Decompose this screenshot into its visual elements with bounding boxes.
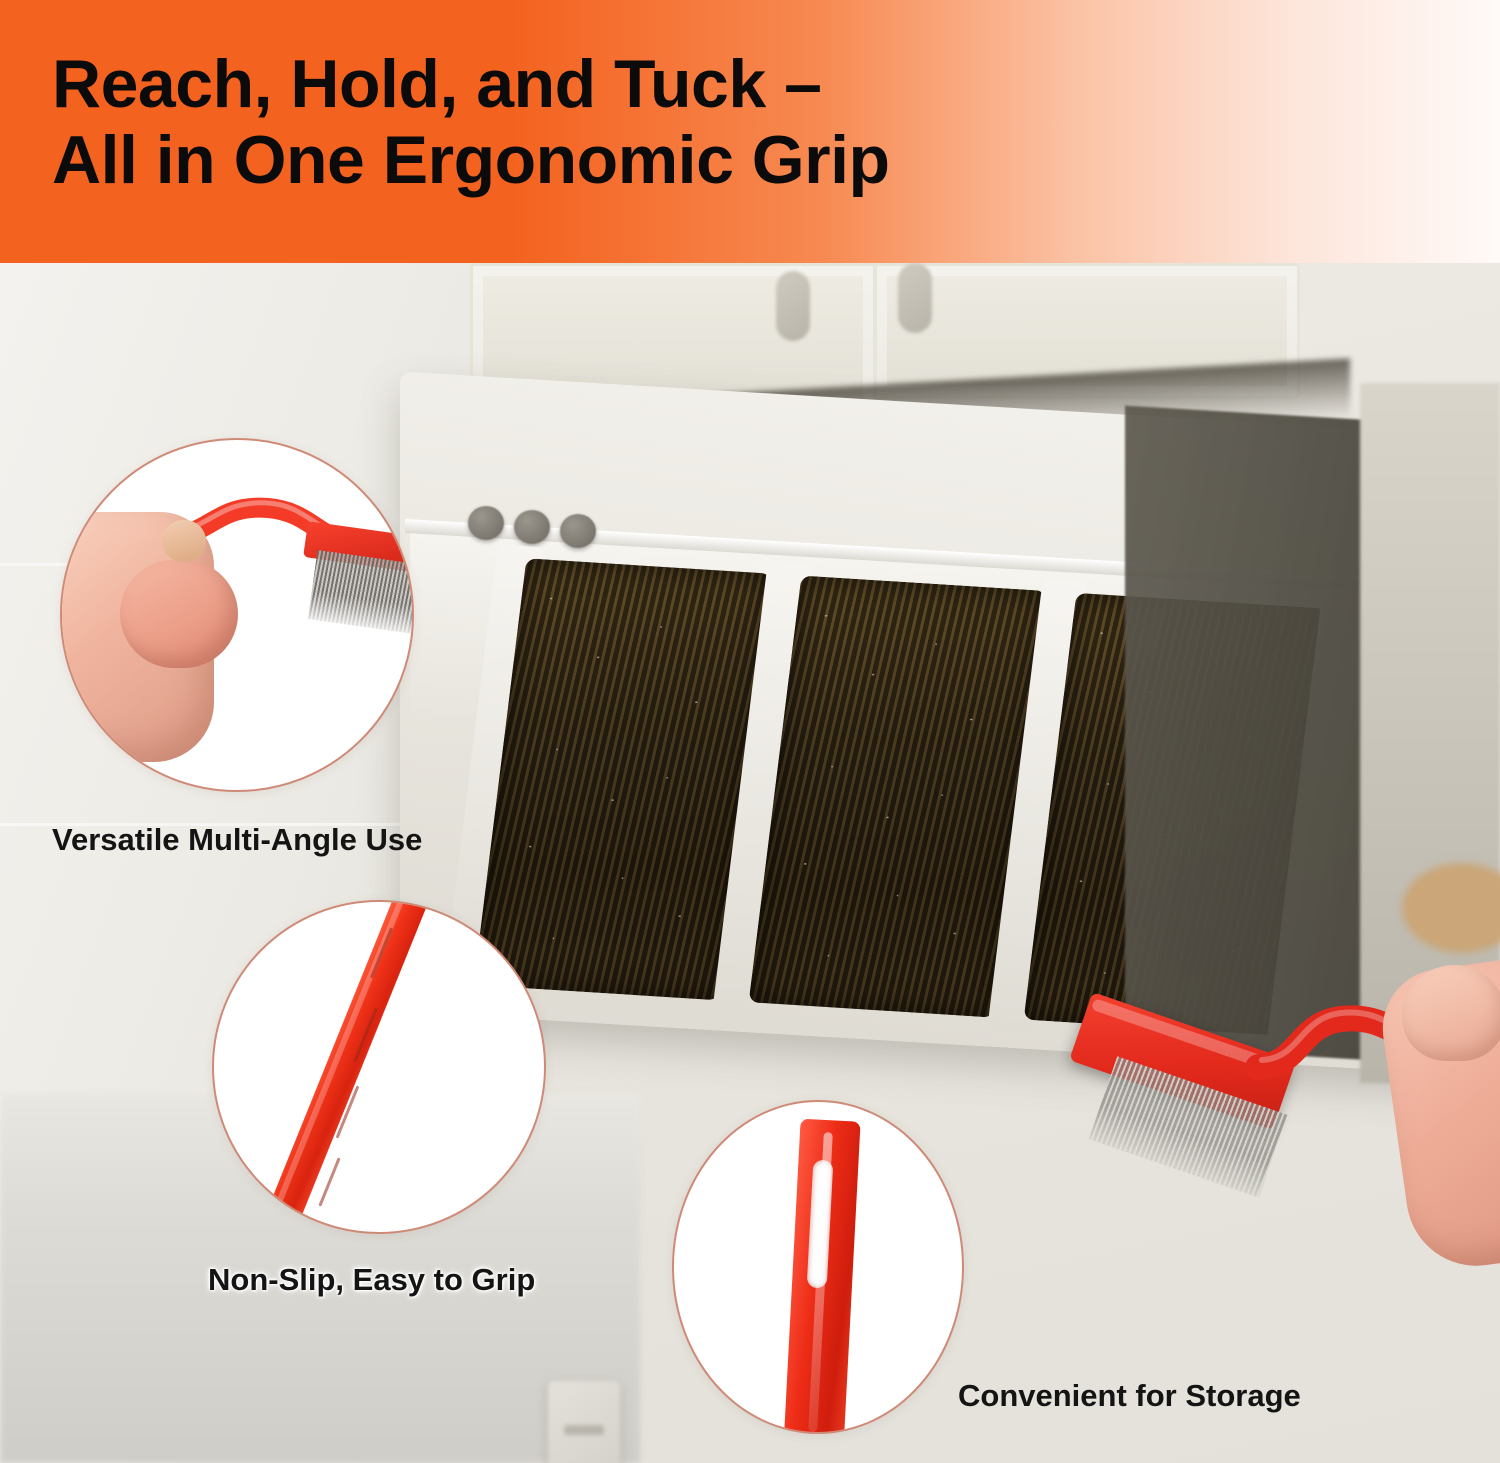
cabinet-knob	[898, 263, 932, 333]
callout-label-3: Convenient for Storage	[958, 1378, 1301, 1414]
header-banner: Reach, Hold, and Tuck – All in One Ergon…	[0, 0, 1500, 263]
wall-outlet	[548, 1381, 620, 1463]
wire-bristles-mini	[308, 550, 414, 636]
headline-line-2: All in One Ergonomic Grip	[52, 122, 1382, 198]
hood-control-button[interactable]	[468, 506, 504, 540]
hood-control-button[interactable]	[560, 514, 596, 548]
handle-closeup	[245, 900, 434, 1234]
hood-control-button[interactable]	[514, 510, 550, 544]
cabinet-knob	[776, 271, 810, 341]
callout-circle-1	[60, 438, 414, 792]
knuckle	[120, 560, 238, 668]
range-hood-shadow-side	[1125, 406, 1375, 1061]
callout-circle-3	[672, 1100, 964, 1434]
thumb	[1402, 965, 1500, 1061]
callout-circle-2	[212, 900, 546, 1234]
callout-label-2: Non-Slip, Easy to Grip	[208, 1262, 535, 1298]
page-title: Reach, Hold, and Tuck – All in One Ergon…	[52, 46, 1382, 198]
thumbnail	[162, 520, 206, 562]
product-feature-image: Reach, Hold, and Tuck – All in One Ergon…	[0, 0, 1500, 1463]
callout-label-1: Versatile Multi-Angle Use	[52, 822, 422, 858]
headline-line-1: Reach, Hold, and Tuck –	[52, 46, 821, 122]
